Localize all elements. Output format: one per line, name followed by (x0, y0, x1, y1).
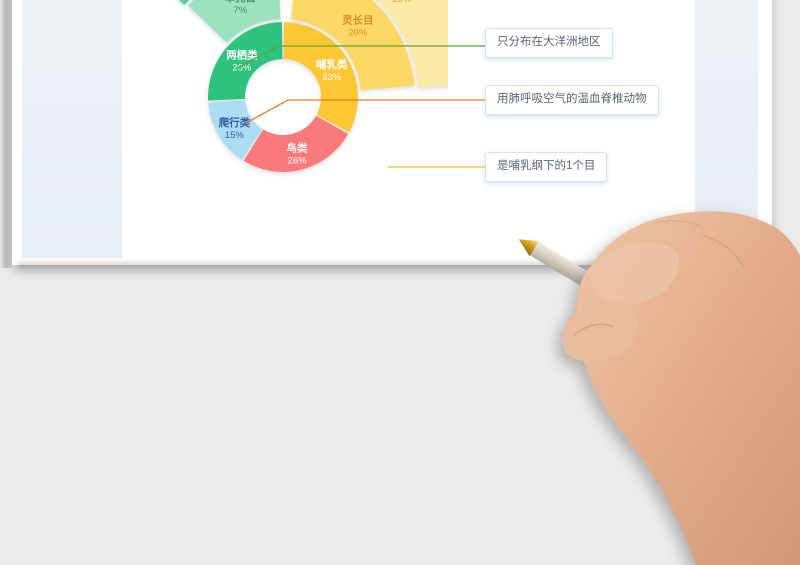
sunburst-donut-chart: 哺乳类33%鸟类26%爬行类15%两栖类26%灵长目26%单孔目7%猴科26%鸭… (118, 0, 448, 262)
slide-frame-edge (0, 0, 12, 268)
chart-slice[interactable] (244, 116, 349, 172)
slide-stage: 哺乳类33%鸟类26%爬行类15%两栖类26%灵长目26%单孔目7%猴科26%鸭… (0, 0, 800, 555)
annotation-callout-1[interactable]: 用肺呼吸空气的温血脊椎动物 (485, 85, 659, 115)
hand-holding-pen-image (470, 175, 800, 565)
chart-svg: 哺乳类33%鸟类26%爬行类15%两栖类26%灵长目26%单孔目7%猴科26%鸭… (118, 0, 448, 262)
decor-panel-left (22, 0, 122, 258)
chart-arcs (133, 0, 448, 172)
annotation-callout-0[interactable]: 只分布在大洋洲地区 (485, 28, 613, 58)
hand (563, 211, 800, 565)
